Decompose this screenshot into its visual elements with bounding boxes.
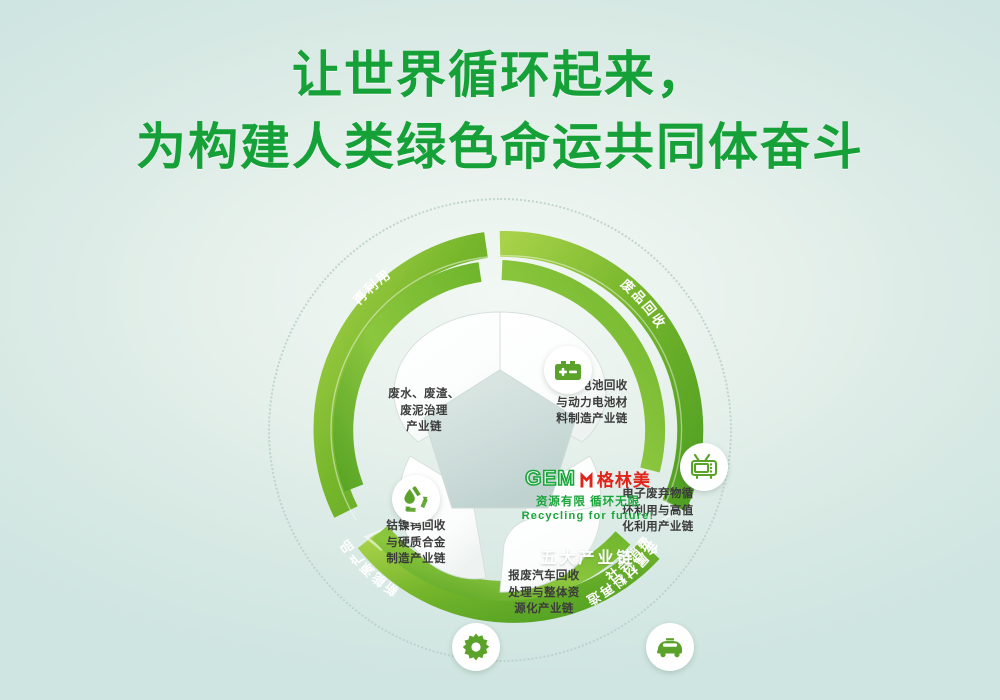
logo-slogan: 资源有限 循环无限 (508, 493, 668, 509)
battery-icon-bubble (544, 346, 592, 394)
petal-line: 处理与整体资 (496, 585, 592, 602)
car-icon (655, 636, 685, 658)
car-icon-bubble (646, 623, 694, 671)
headline-line-2: 为构建人类绿色命运共同体奋斗 (0, 114, 1000, 180)
petal-text-layer: 废旧电池回收 与动力电池材 料制造产业链 废水、废渣、 废泥治理 产业链 电子废… (348, 278, 652, 582)
petal-label-vehicle-chain: 报废汽车回收 处理与整体资 源化产业链 (496, 568, 592, 618)
petal-line: 制造产业链 (368, 551, 464, 568)
gear-icon (462, 633, 490, 661)
gear-icon-bubble (452, 623, 500, 671)
gem-wordmark: GEM (525, 467, 576, 491)
logo-english-slogan: Recycling for future! (508, 510, 668, 522)
petal-line: 废水、废渣、 (376, 386, 472, 403)
petal-line: 报废汽车回收 (496, 568, 592, 585)
petal-line: 废泥治理 (376, 403, 472, 420)
circular-economy-diagram: 废品回收 再利用 社会消费 金属材料再造 新能源产品 (290, 220, 710, 640)
petal-line: 料制造产业链 (544, 411, 640, 428)
petal-label-cobalt-chain: 钴镍钨回收 与硬质合金 制造产业链 (368, 518, 464, 568)
recycle-icon-bubble (392, 475, 440, 523)
battery-icon (554, 358, 582, 382)
headline-line-1: 让世界循环起来， (0, 42, 1000, 108)
tv-icon-bubble (680, 443, 728, 491)
petal-line: 与动力电池材 (544, 395, 640, 412)
recycle-water-icon (401, 485, 431, 513)
logo-row: GEM 格林美 (508, 466, 668, 491)
gem-chinese-name: 格林美 (597, 466, 651, 491)
petal-label-wastewater-chain: 废水、废渣、 废泥治理 产业链 (376, 386, 472, 436)
poster-canvas: 让世界循环起来， 为构建人类绿色命运共同体奋斗 (0, 0, 1000, 700)
gem-logo-mark (580, 471, 593, 488)
tv-icon (690, 454, 718, 480)
center-title: 五大产业链 (508, 544, 668, 568)
petal-line: 与硬质合金 (368, 535, 464, 552)
center-logo-block: GEM 格林美 资源有限 循环无限 Recycling for future! … (508, 466, 668, 568)
page-title: 让世界循环起来， 为构建人类绿色命运共同体奋斗 (0, 42, 1000, 180)
petal-line: 产业链 (376, 419, 472, 436)
petal-line: 源化产业链 (496, 601, 592, 618)
